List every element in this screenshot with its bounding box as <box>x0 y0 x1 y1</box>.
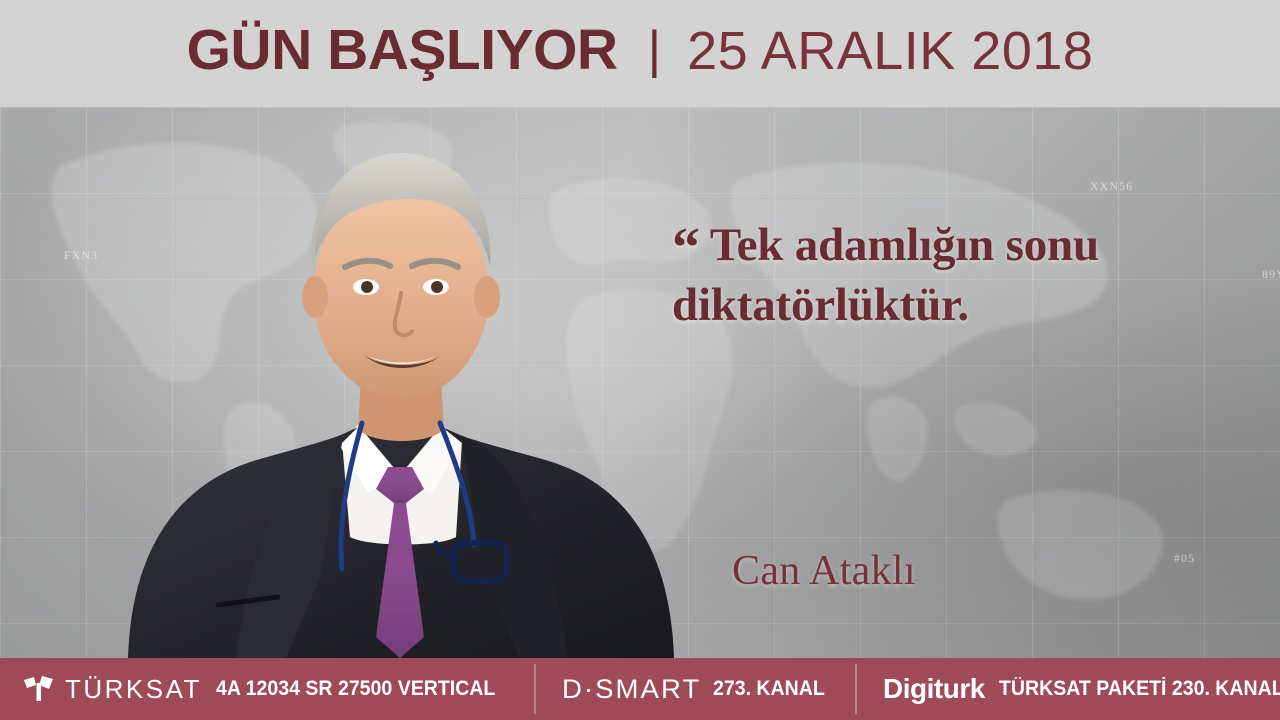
quote-line-2: diktatörlüktür. <box>672 275 1262 335</box>
footer-cell-turksat: TÜRKSAT 4A 12034 SR 27500 VERTICAL <box>0 658 534 720</box>
header-inner: GÜN BAŞLIYOR | 25 ARALIK 2018 <box>187 22 1094 79</box>
map-code-label: FXN3 <box>64 248 98 263</box>
satellite-icon <box>22 676 56 702</box>
brand-turksat: TÜRKSAT <box>65 674 202 705</box>
brand-dsmart: D·SMART <box>562 674 701 705</box>
dsmart-channel-info: 273. KANAL <box>713 677 825 701</box>
footer-cell-dsmart: D·SMART 273. KANAL <box>536 658 855 720</box>
quote-block: “Tek adamlığın sonu diktatörlüktür. <box>672 215 1262 335</box>
quote-text-1: Tek adamlığın sonu <box>710 219 1099 271</box>
map-code-label: #05 <box>1174 551 1195 566</box>
footer-cell-digiturk: Digiturk TÜRKSAT PAKETİ 230. KANAL <box>857 658 1280 720</box>
title-separator: | <box>648 24 662 76</box>
broadcast-lower-third-graphic: GÜN BAŞLIYOR | 25 ARALIK 2018 <box>0 0 1280 720</box>
header-band: GÜN BAŞLIYOR | 25 ARALIK 2018 <box>0 0 1280 107</box>
quote-line-1: “Tek adamlığın sonu <box>672 215 1262 275</box>
digiturk-channel-info: TÜRKSAT PAKETİ 230. KANAL <box>999 677 1280 701</box>
author-name: Can Ataklı <box>732 547 916 595</box>
map-code-label: 89Y7 <box>1262 267 1280 282</box>
show-title: GÜN BAŞLIYOR <box>187 22 618 79</box>
brand-digiturk: Digiturk <box>883 673 985 705</box>
broadcast-date: 25 ARALIK 2018 <box>687 24 1093 78</box>
main-visual-area: FXN3 XXN56 89Y7 #05 <box>0 107 1280 658</box>
map-code-label: XXN56 <box>1090 179 1133 194</box>
footer-bar: TÜRKSAT 4A 12034 SR 27500 VERTICAL D·SMA… <box>0 658 1280 720</box>
turksat-frequency-info: 4A 12034 SR 27500 VERTICAL <box>216 677 495 701</box>
presenter-portrait <box>110 107 690 658</box>
